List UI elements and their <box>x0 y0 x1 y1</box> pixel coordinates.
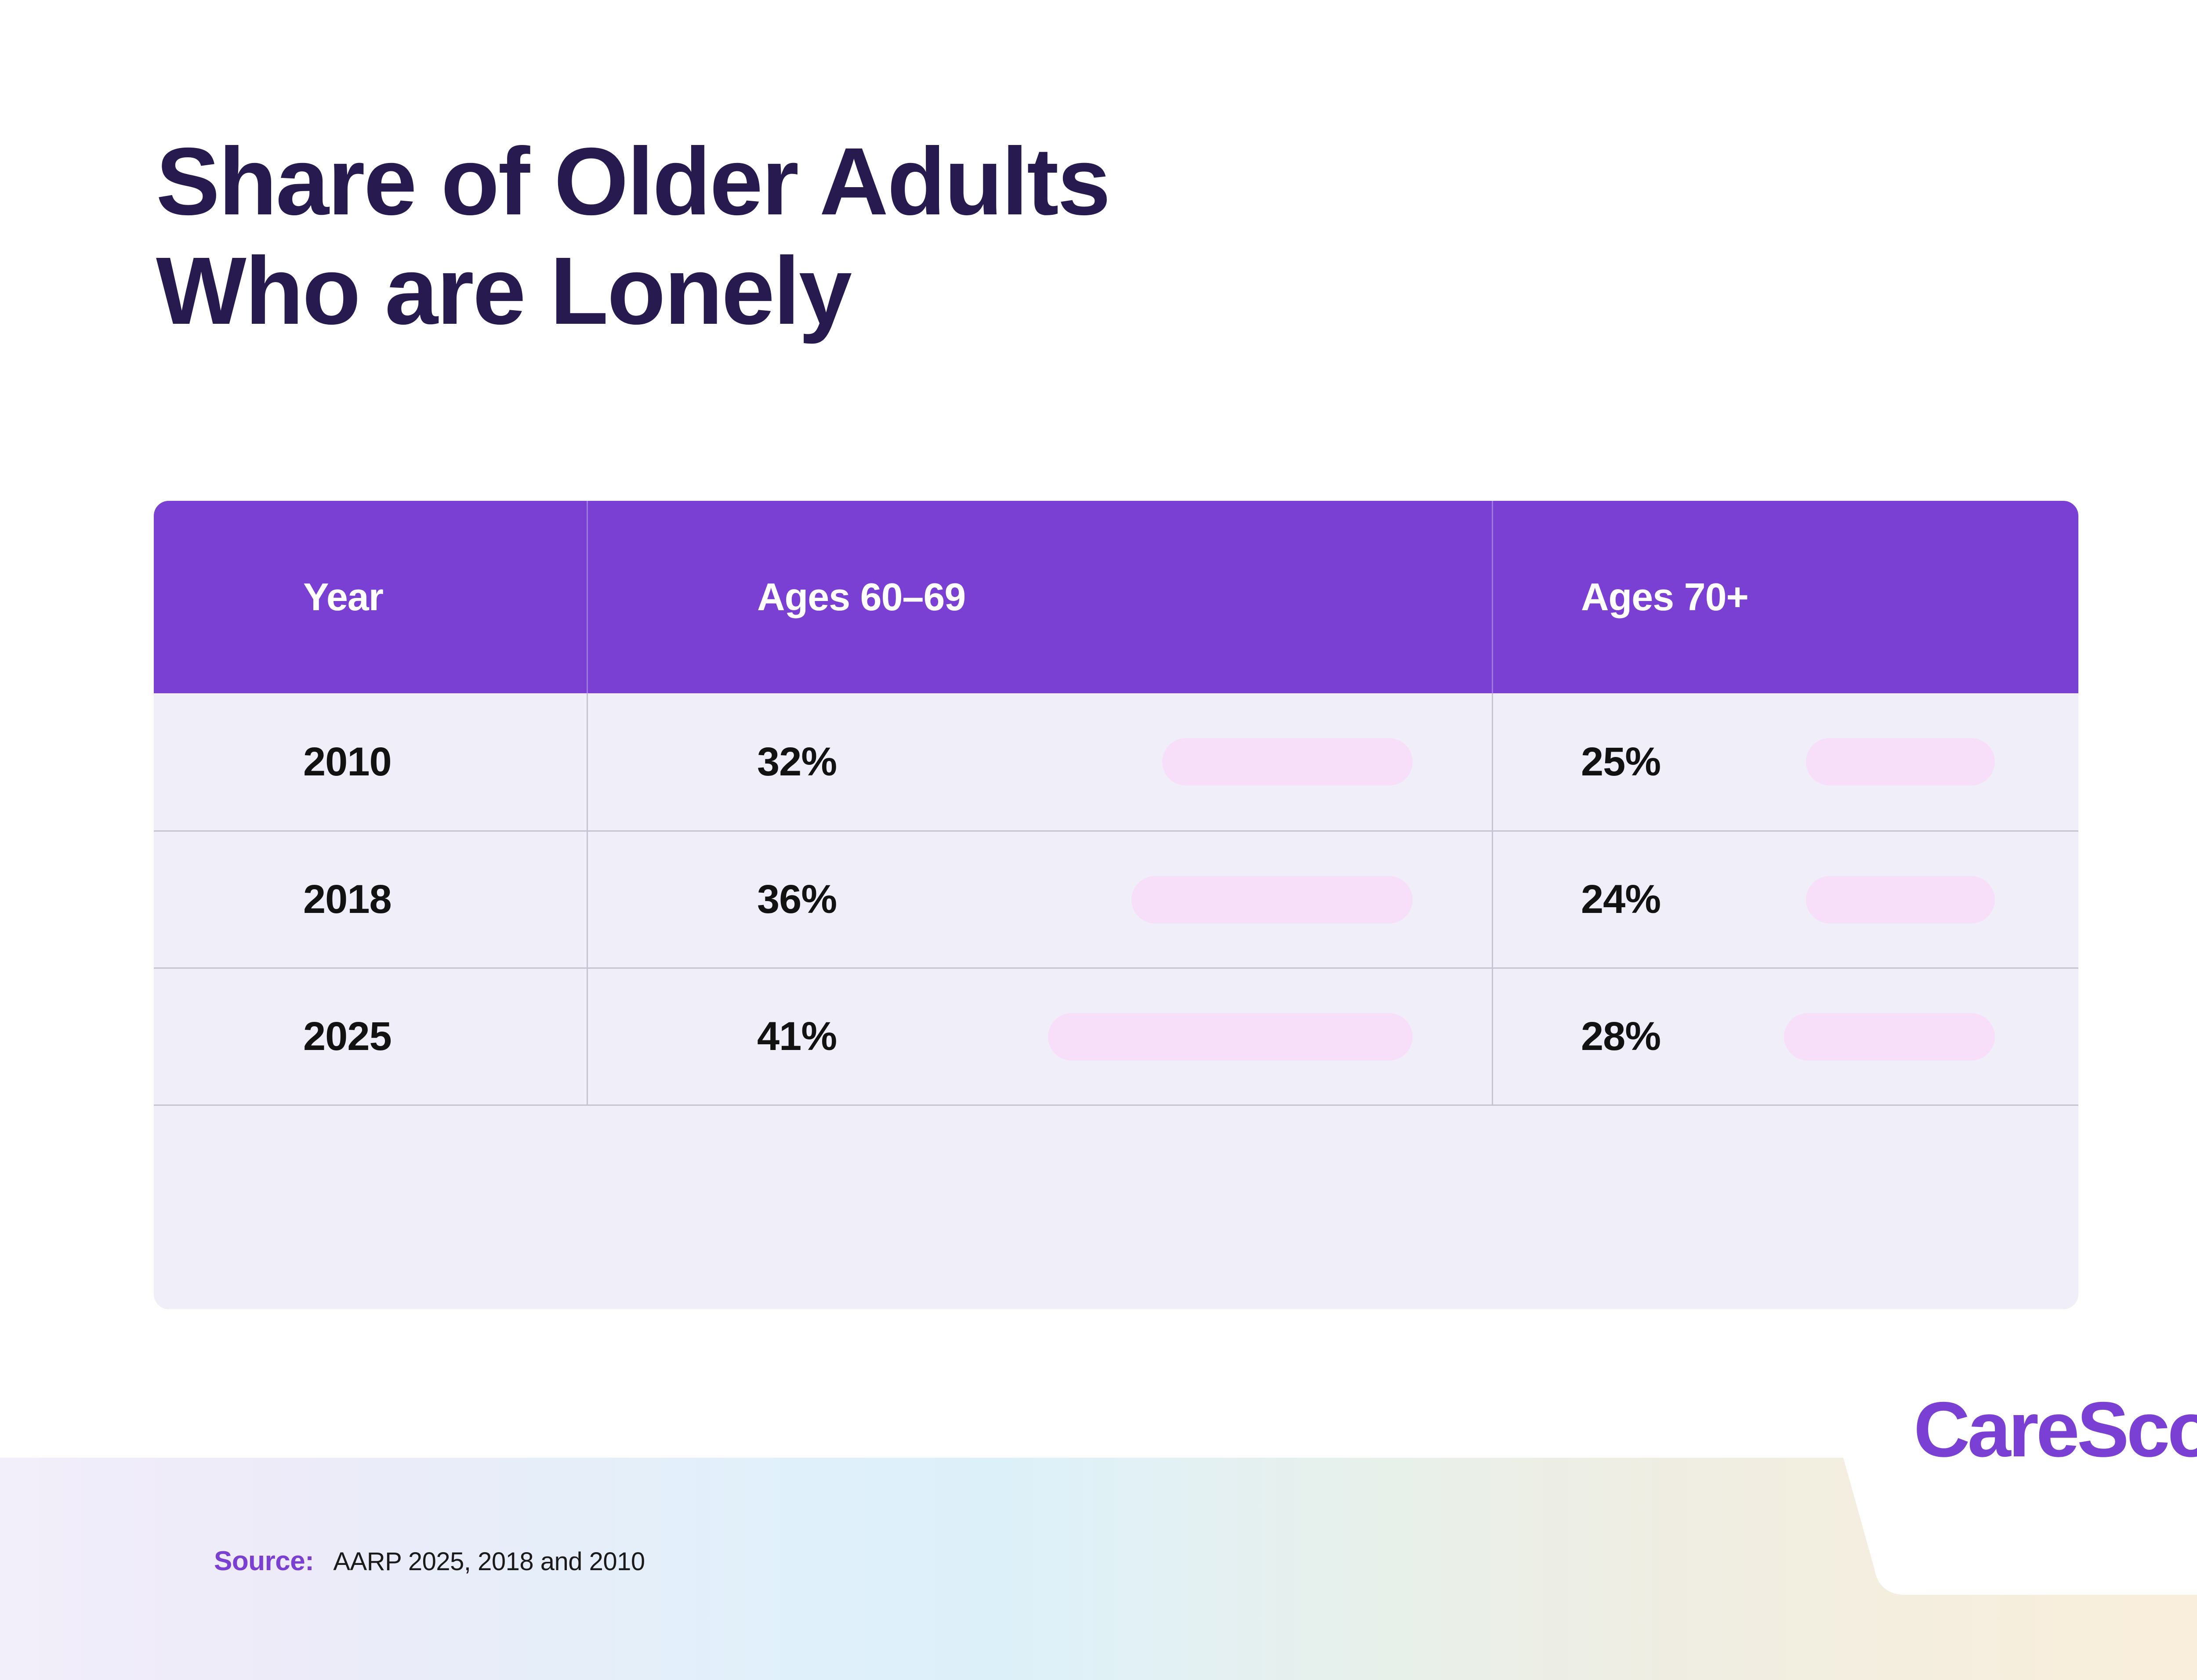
cell-ages-60-69-value: 41% <box>757 1014 837 1060</box>
source-text: AARP 2025, 2018 and 2010 <box>333 1547 645 1576</box>
brand-wordmark: CareScout <box>1914 1390 2197 1469</box>
cell-ages-70-plus: 25% <box>1492 693 2078 830</box>
source-label: Source: <box>214 1546 314 1577</box>
cell-ages-70-plus-value: 24% <box>1581 876 1660 923</box>
cell-ages-60-69-value: 36% <box>757 876 837 923</box>
bar-ages-60-69 <box>1162 738 1413 786</box>
cell-year-value: 2010 <box>303 739 392 785</box>
column-header-year: Year <box>154 501 587 693</box>
bar-ages-60-69 <box>1131 876 1413 923</box>
source-line: Source: AARP 2025, 2018 and 2010 <box>214 1546 645 1577</box>
page-title: Share of Older Adults Who are Lonely <box>156 127 1606 346</box>
cell-ages-70-plus-value: 28% <box>1581 1014 1660 1060</box>
cell-ages-70-plus: 28% <box>1492 969 2078 1104</box>
column-header-ages-70-plus-label: Ages 70+ <box>1581 575 1748 619</box>
table-row: 2025 41% 28% <box>154 967 2078 1104</box>
column-header-ages-60-69: Ages 60–69 <box>587 501 1492 693</box>
bar-ages-60-69 <box>1048 1013 1413 1061</box>
column-header-year-label: Year <box>303 575 383 619</box>
table-row: 2010 32% 25% <box>154 693 2078 830</box>
brand-logo: CareScout ® <box>1914 1390 2197 1469</box>
lonely-share-table: Year Ages 60–69 Ages 70+ 2010 32% 25% 20… <box>154 501 2078 1309</box>
cell-ages-70-plus: 24% <box>1492 832 2078 967</box>
cell-ages-60-69-value: 32% <box>757 739 837 785</box>
cell-ages-60-69: 32% <box>587 693 1492 830</box>
table-row-empty <box>154 1104 2078 1106</box>
bar-ages-70-plus <box>1806 876 1995 923</box>
cell-ages-60-69: 41% <box>587 969 1492 1104</box>
cell-year-value: 2018 <box>303 876 392 923</box>
bar-ages-70-plus <box>1806 738 1995 786</box>
cell-ages-60-69: 36% <box>587 832 1492 967</box>
cell-year: 2025 <box>154 969 587 1104</box>
bar-ages-70-plus <box>1784 1013 1995 1061</box>
cell-ages-70-plus-value: 25% <box>1581 739 1660 785</box>
cell-year: 2018 <box>154 832 587 967</box>
logo-notch-shape <box>1843 1458 2197 1595</box>
column-header-ages-60-69-label: Ages 60–69 <box>757 575 965 619</box>
cell-year: 2010 <box>154 693 587 830</box>
table-header-row: Year Ages 60–69 Ages 70+ <box>154 501 2078 693</box>
table-row: 2018 36% 24% <box>154 830 2078 967</box>
cell-year-value: 2025 <box>303 1014 392 1060</box>
column-header-ages-70-plus: Ages 70+ <box>1492 501 2078 693</box>
